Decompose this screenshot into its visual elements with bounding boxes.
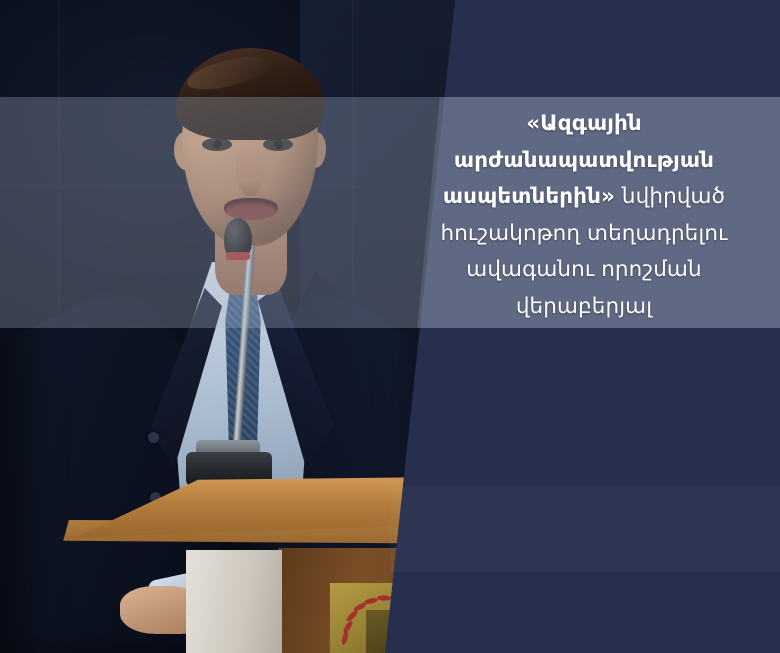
podium-side-panel [186,550,282,653]
caption-line-5: ավագանու որոշման [398,252,770,289]
jacket-button-upper [148,432,159,443]
caption-line-1: «Ազգային [398,106,770,143]
caption-line-6: վերաբերյալ [398,289,770,326]
caption-line-3-regular: նվիրված [615,184,725,209]
caption-line-1-bold: «Ազգային [526,111,642,136]
caption-line-3-bold: ասպետներին» [443,184,615,209]
caption-line-4: հուշակոթող տեղադրելու [398,216,770,253]
hair [176,48,324,140]
nose [236,144,264,196]
caption-text: «Ազգային արժանապատվության ասպետներին» նվ… [398,106,770,325]
caption-line-2: արժանապատվության [398,143,770,180]
caption-line-2-bold: արժանապատվության [454,148,714,173]
poster-canvas: «Ազգային արժանապատվության ասպետներին» նվ… [0,0,780,653]
mouth [224,198,278,220]
eye-left [202,138,232,151]
caption-line-6-regular: վերաբերյալ [516,294,652,319]
caption-line-4-regular: հուշակոթող տեղադրելու [440,221,727,246]
caption-line-5-regular: ավագանու որոշման [466,257,701,282]
microphone-indicator-ring [226,252,250,260]
caption-line-3: ասպետներին» նվիրված [398,179,770,216]
